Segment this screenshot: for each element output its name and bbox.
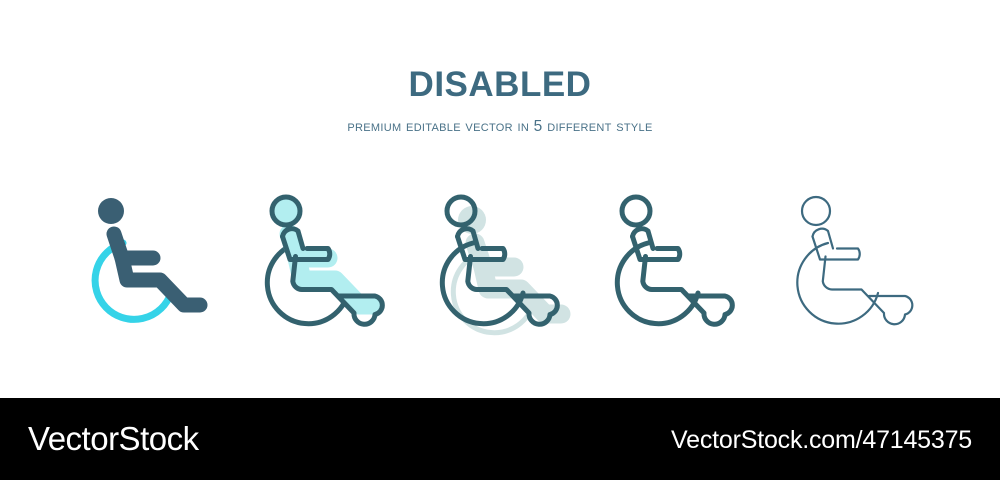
rider-body (114, 234, 200, 305)
icon-variant-row (0, 186, 1000, 336)
disabled-icon-thin-outline[interactable] (765, 186, 935, 336)
brand-wordmark: VectorStock (28, 418, 199, 460)
rider-head (272, 197, 300, 225)
artboard: DISABLED Premium editable vector in 5 di… (0, 0, 1000, 398)
rider-head (802, 197, 830, 225)
footer-url: VectorStock.com/47145375 (671, 423, 972, 457)
rider-head (98, 198, 124, 224)
page-subtitle: Premium editable vector in 5 different s… (0, 117, 1000, 137)
page-title: DISABLED (0, 64, 1000, 106)
disabled-icon-outline[interactable] (585, 186, 755, 336)
disabled-icon-shadow-duotone[interactable] (410, 186, 580, 336)
rider-head (622, 197, 650, 225)
disabled-icon-filled-outline[interactable] (235, 186, 405, 336)
wheel-arc (797, 243, 878, 324)
wheel-arc (617, 243, 698, 324)
watermark-footer: VectorStock VectorStock.com/47145375 (0, 398, 1000, 480)
disabled-icon-filled-duo[interactable] (60, 186, 230, 336)
